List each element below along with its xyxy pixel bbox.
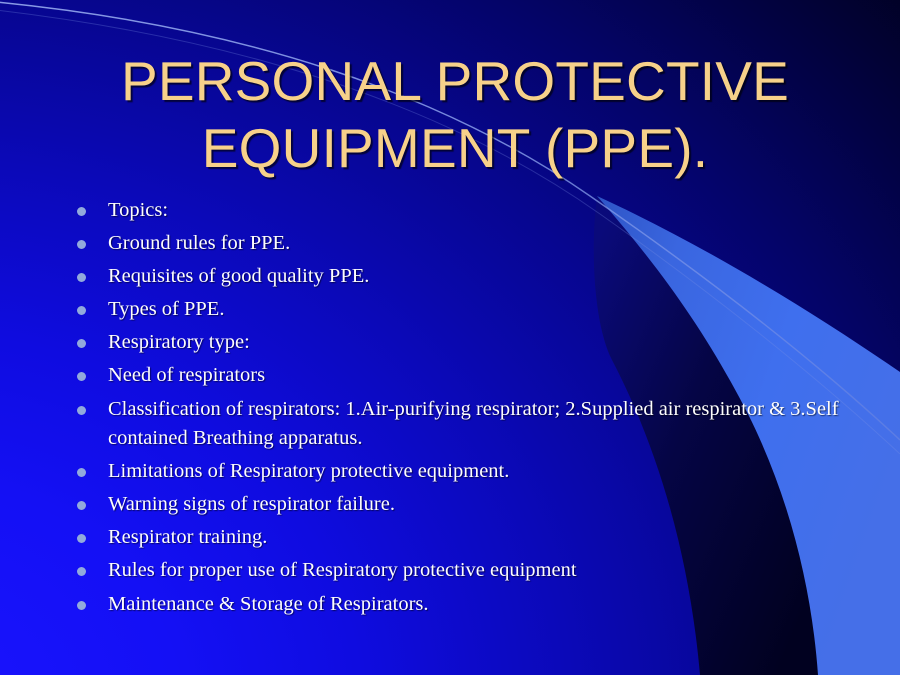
list-item-label: Respirator training.	[108, 523, 856, 553]
list-item: Respiratory type:	[66, 328, 856, 358]
list-item: Warning signs of respirator failure.	[66, 490, 856, 520]
list-item: Ground rules for PPE.	[66, 229, 856, 259]
list-item-label: Classification of respirators: 1.Air-pur…	[108, 395, 856, 454]
list-item-label: Types of PPE.	[108, 295, 856, 325]
list-item: Rules for proper use of Respiratory prot…	[66, 556, 856, 586]
bullet-dot-icon	[77, 372, 86, 381]
list-item-label: Limitations of Respiratory protective eq…	[108, 457, 856, 487]
bullet-dot-icon	[77, 406, 86, 415]
bullet-dot-icon	[77, 240, 86, 249]
slide-bullet-list: Topics: Ground rules for PPE. Requisites…	[66, 196, 856, 623]
list-item-label: Warning signs of respirator failure.	[108, 490, 856, 520]
list-item: Types of PPE.	[66, 295, 856, 325]
bullet-dot-icon	[77, 207, 86, 216]
list-item-label: Rules for proper use of Respiratory prot…	[108, 556, 856, 586]
bullet-dot-icon	[77, 534, 86, 543]
list-item: Topics:	[66, 196, 856, 226]
list-item-label: Ground rules for PPE.	[108, 229, 856, 259]
presentation-slide: PERSONAL PROTECTIVE EQUIPMENT (PPE). Top…	[0, 0, 900, 675]
bullet-dot-icon	[77, 273, 86, 282]
list-item-label: Need of respirators	[108, 361, 856, 391]
list-item-label: Respiratory type:	[108, 328, 856, 358]
slide-title: PERSONAL PROTECTIVE EQUIPMENT (PPE).	[60, 48, 850, 182]
bullet-dot-icon	[77, 567, 86, 576]
list-item: Respirator training.	[66, 523, 856, 553]
bullet-dot-icon	[77, 501, 86, 510]
list-item: Maintenance & Storage of Respirators.	[66, 590, 856, 620]
bullet-dot-icon	[77, 306, 86, 315]
list-item: Classification of respirators: 1.Air-pur…	[66, 395, 856, 454]
bullet-dot-icon	[77, 601, 86, 610]
list-item: Limitations of Respiratory protective eq…	[66, 457, 856, 487]
list-item: Requisites of good quality PPE.	[66, 262, 856, 292]
list-item-label: Requisites of good quality PPE.	[108, 262, 856, 292]
list-item-label: Maintenance & Storage of Respirators.	[108, 590, 856, 620]
bullet-dot-icon	[77, 339, 86, 348]
list-item: Need of respirators	[66, 361, 856, 391]
bullet-dot-icon	[77, 468, 86, 477]
list-item-label: Topics:	[108, 196, 856, 226]
